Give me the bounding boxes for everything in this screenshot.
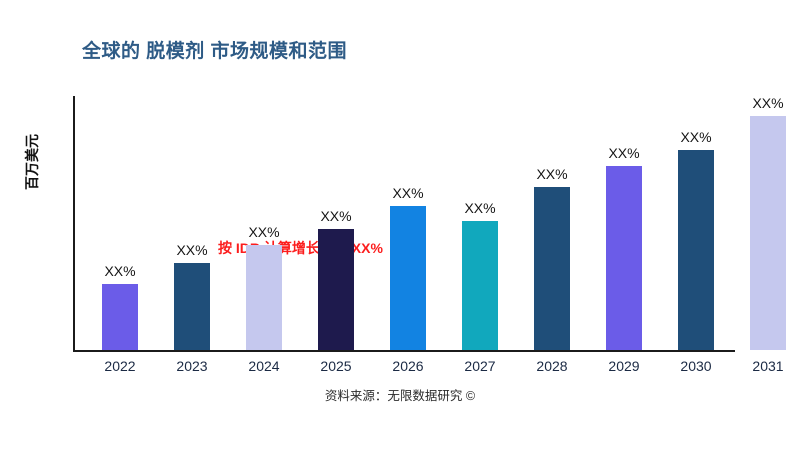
bar-value-label-2028: XX%: [520, 166, 584, 182]
x-tick-2026: 2026: [376, 358, 440, 374]
bar-value-label-2027: XX%: [448, 200, 512, 216]
growth-rate-annotation: 按 IDR 计算增长率为 XX%: [218, 238, 383, 258]
bar-value-label-2024: XX%: [232, 224, 296, 240]
bar-rect-2031[interactable]: [750, 116, 786, 350]
source-note: 资料来源：无限数据研究 ©: [0, 385, 800, 404]
bar-rect-2023[interactable]: [174, 263, 210, 350]
bar-value-label-2025: XX%: [304, 208, 368, 224]
y-axis-line: [73, 96, 75, 352]
x-tick-2024: 2024: [232, 358, 296, 374]
x-axis-line: [73, 350, 735, 352]
bar-value-label-2023: XX%: [160, 242, 224, 258]
y-axis-label: 百万美元: [22, 102, 42, 222]
chart-page: 全球的 脱模剂 市场规模和范围 百万美元 按 IDR 计算增长率为 XX% XX…: [0, 0, 800, 450]
bar-value-label-2022: XX%: [88, 263, 152, 279]
bar-rect-2026[interactable]: [390, 206, 426, 350]
bar-rect-2027[interactable]: [462, 221, 498, 350]
bar-value-label-2026: XX%: [376, 185, 440, 201]
x-tick-2030: 2030: [664, 358, 728, 374]
page-title: 全球的 脱模剂 市场规模和范围: [82, 36, 347, 63]
plot-area: 按 IDR 计算增长率为 XX% XX%XX%XX%XX%XX%XX%XX%XX…: [73, 96, 735, 352]
bar-rect-2025[interactable]: [318, 229, 354, 350]
x-tick-2022: 2022: [88, 358, 152, 374]
bar-value-label-2031: XX%: [736, 95, 800, 111]
bar-rect-2030[interactable]: [678, 150, 714, 350]
x-tick-2029: 2029: [592, 358, 656, 374]
x-tick-2027: 2027: [448, 358, 512, 374]
bar-rect-2028[interactable]: [534, 187, 570, 350]
x-tick-2028: 2028: [520, 358, 584, 374]
x-tick-2031: 2031: [736, 358, 800, 374]
bar-value-label-2029: XX%: [592, 145, 656, 161]
bar-rect-2024[interactable]: [246, 245, 282, 350]
bar-value-label-2030: XX%: [664, 129, 728, 145]
bar-rect-2022[interactable]: [102, 284, 138, 350]
bar-rect-2029[interactable]: [606, 166, 642, 350]
x-tick-2025: 2025: [304, 358, 368, 374]
x-tick-2023: 2023: [160, 358, 224, 374]
